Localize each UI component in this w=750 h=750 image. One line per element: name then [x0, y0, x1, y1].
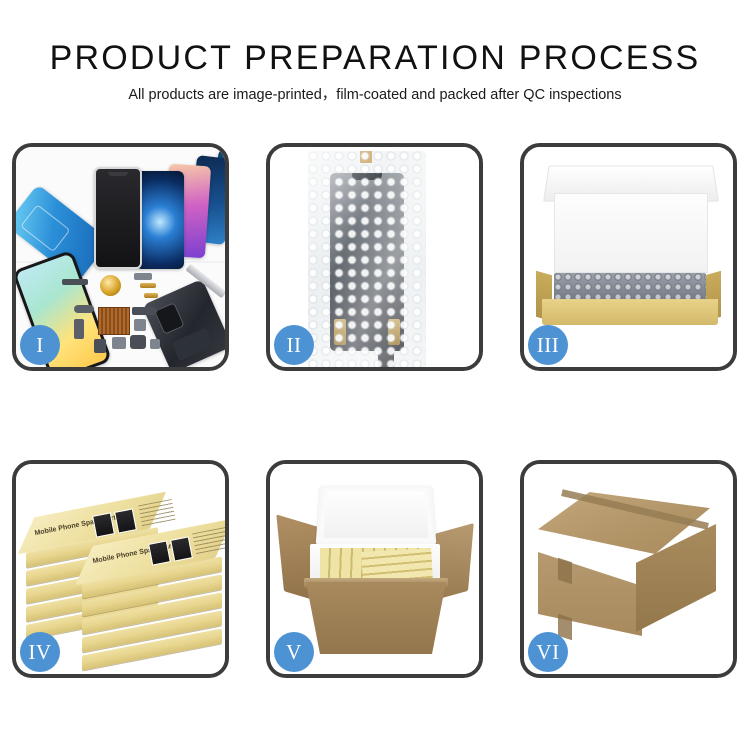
panel-phone-parts[interactable]: I [12, 143, 229, 371]
panel-boxes-stacked[interactable]: Mobile Phone Spare Parts Mobile Phone Sp… [12, 460, 229, 678]
vibrator-part [130, 335, 146, 349]
tray-part [112, 337, 126, 349]
burst-screen-icon [136, 171, 184, 269]
carton-left-face [538, 536, 642, 636]
page-header: PRODUCT PREPARATION PROCESS All products… [0, 0, 750, 105]
foam-lid-icon [316, 485, 437, 544]
foam-sheet-icon [554, 193, 708, 273]
inner-yellow-boxes [361, 548, 432, 582]
flex-cable-part [74, 305, 94, 313]
carton-tape-upper [558, 558, 572, 585]
panel-carton-packing[interactable]: V [266, 460, 483, 678]
panel-sealed-carton[interactable]: VI [520, 460, 737, 678]
glass-panel-icon [94, 167, 142, 269]
bracket-part [134, 273, 152, 280]
page-subtitle: All products are image-printed，film-coat… [0, 85, 750, 105]
plastic-sheen [308, 151, 426, 367]
page-title: PRODUCT PREPARATION PROCESS [0, 38, 750, 78]
chip-grid-icon [98, 307, 130, 335]
screw-part [150, 339, 160, 349]
panel-inner-box-foam[interactable]: III [520, 143, 737, 371]
panel-badge: IV [20, 632, 60, 672]
camera-module-part [132, 307, 156, 315]
speaker-coil-icon [100, 275, 121, 296]
panel-bubble-wrapped-screen[interactable]: II [266, 143, 483, 371]
phone-housing-icon [142, 279, 225, 367]
panel-badge: II [274, 325, 314, 365]
box-thumbnail [92, 512, 115, 537]
carton-body [306, 582, 446, 654]
panel-badge: I [20, 325, 60, 365]
box-thumbnail [114, 508, 137, 533]
gold-contact-part [144, 293, 158, 298]
sensor-part [134, 319, 146, 331]
button-part [94, 339, 106, 353]
panel-badge: V [274, 632, 314, 672]
process-grid: I II III [12, 143, 738, 678]
panel-badge: III [528, 325, 568, 365]
bubble-wrap-bag [308, 151, 426, 367]
flex-cable-part [74, 319, 84, 339]
box-front-face [542, 299, 718, 325]
box-thumbnail [148, 540, 171, 565]
box-thumbnail [170, 536, 193, 561]
connector-part [62, 279, 88, 285]
panel-badge: VI [528, 632, 568, 672]
gold-contact-part [140, 283, 156, 288]
